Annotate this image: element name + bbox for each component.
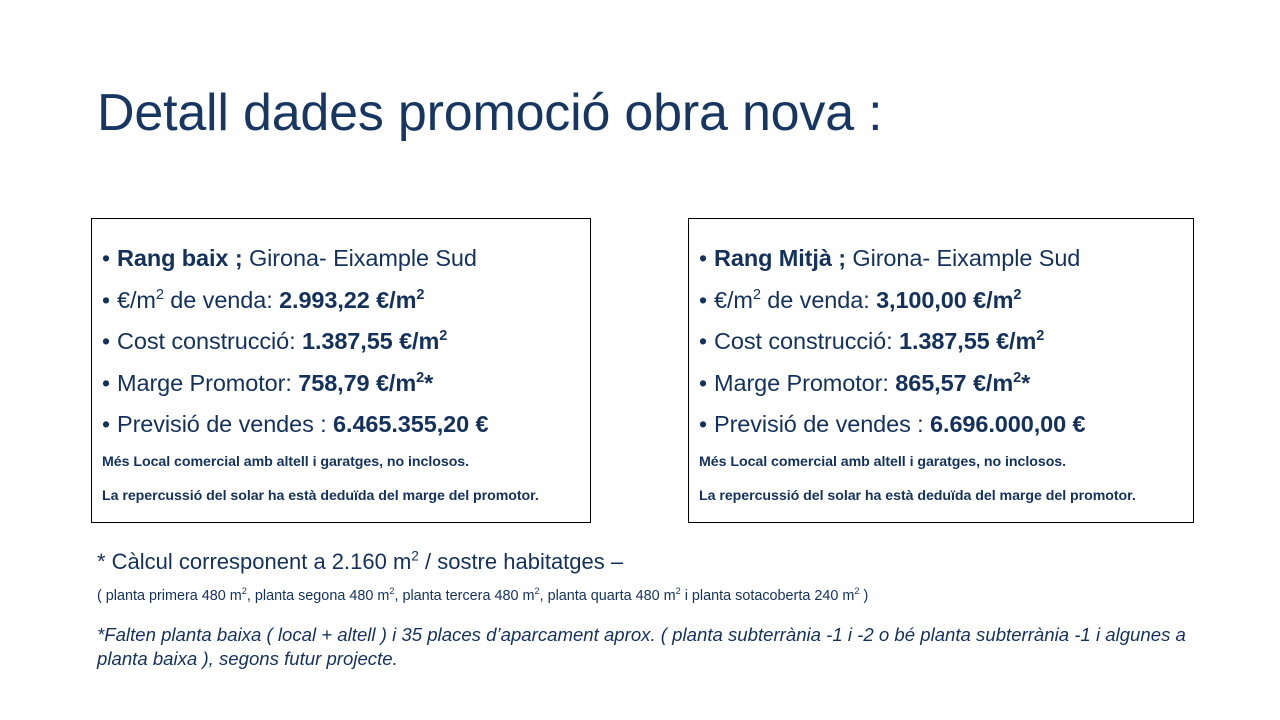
bullet-icon: •	[102, 413, 117, 436]
panel-heading-rest: Girona- Eixample Sud	[846, 245, 1080, 271]
row-value: 6.465.355,20 €	[333, 411, 488, 437]
row-label-pre: Marge Promotor:	[714, 370, 895, 396]
bullet-icon: •	[102, 372, 117, 395]
row-label-pre: Marge Promotor:	[117, 370, 298, 396]
row-label-pre: Previsió de vendes :	[714, 411, 930, 437]
footnote-detail-p4: i planta sotacoberta 240 m	[681, 588, 855, 604]
row-label-pre: Cost construcció:	[117, 328, 302, 354]
bullet-icon: •	[102, 247, 117, 270]
row-value-sup: 2	[1013, 287, 1021, 303]
panel-heading: •Rang Mitjà ; Girona- Eixample Sud	[699, 247, 1185, 271]
bullet-icon: •	[699, 413, 714, 436]
footnote-detail-p2: , planta tercera 480 m	[394, 588, 534, 604]
panel-rang-baix: •Rang baix ; Girona- Eixample Sud •€/m2 …	[91, 218, 591, 523]
row-value: 3,100,00 €/m	[876, 287, 1013, 313]
row-value: 758,79 €/m	[298, 370, 416, 396]
row-value: 1.387,55 €/m	[899, 328, 1036, 354]
footnote-detail: ( planta primera 480 m2, planta segona 4…	[97, 589, 868, 603]
footnote-italic: *Falten planta baixa ( local + altell ) …	[97, 623, 1217, 671]
bullet-icon: •	[699, 372, 714, 395]
panel-heading: •Rang baix ; Girona- Eixample Sud	[102, 247, 582, 271]
row-marge-promotor: •Marge Promotor: 865,57 €/m2*	[699, 372, 1185, 396]
row-label-pre: Cost construcció:	[714, 328, 899, 354]
row-label-sup: 2	[753, 287, 761, 303]
footnote-main-sup: 2	[411, 549, 419, 564]
row-value: 2.993,22 €/m	[279, 287, 416, 313]
bullet-icon: •	[699, 289, 714, 312]
footnote-detail-p5: )	[859, 588, 868, 604]
row-label-pre: €/m	[117, 287, 156, 313]
bullet-icon: •	[102, 289, 117, 312]
row-cost-construccio: •Cost construcció: 1.387,55 €/m2	[699, 330, 1185, 354]
footnote-detail-p0: ( planta primera 480 m	[97, 588, 242, 604]
row-marge-promotor: •Marge Promotor: 758,79 €/m2*	[102, 372, 582, 396]
row-cost-construccio: •Cost construcció: 1.387,55 €/m2	[102, 330, 582, 354]
panel-heading-rest: Girona- Eixample Sud	[243, 245, 477, 271]
row-label-post: de venda:	[761, 287, 876, 313]
row-preu-venda: •€/m2 de venda: 3,100,00 €/m2	[699, 289, 1185, 313]
bullet-icon: •	[102, 330, 117, 353]
row-value-suffix: *	[1021, 370, 1030, 396]
row-label-post: de venda:	[164, 287, 279, 313]
row-value-sup: 2	[1013, 370, 1021, 386]
bullet-icon: •	[699, 330, 714, 353]
page-title: Detall dades promoció obra nova :	[97, 84, 882, 142]
footnote-main-pre: * Càlcul corresponent a 2.160 m	[97, 549, 411, 574]
row-value-sup: 2	[416, 287, 424, 303]
row-value-sup: 2	[416, 370, 424, 386]
row-value: 6.696.000,00 €	[930, 411, 1085, 437]
footnote-detail-p1: , planta segona 480 m	[247, 588, 389, 604]
footnote-main-post: / sostre habitatges –	[419, 549, 623, 574]
panel-note-2: La repercussió del solar ha està deduïda…	[102, 489, 582, 503]
panel-heading-bold: Rang baix ;	[117, 245, 243, 271]
footnote-detail-p3: , planta quarta 480 m	[540, 588, 676, 604]
panel-note-1: Més Local comercial amb altell i garatge…	[102, 455, 582, 469]
row-value: 1.387,55 €/m	[302, 328, 439, 354]
panel-note-1: Més Local comercial amb altell i garatge…	[699, 455, 1185, 469]
panel-rang-mitja: •Rang Mitjà ; Girona- Eixample Sud •€/m2…	[688, 218, 1194, 523]
row-value: 865,57 €/m	[895, 370, 1013, 396]
footnote-main: * Càlcul corresponent a 2.160 m2 / sostr…	[97, 551, 623, 573]
row-label-pre: Previsió de vendes :	[117, 411, 333, 437]
row-preu-venda: •€/m2 de venda: 2.993,22 €/m2	[102, 289, 582, 313]
panel-note-2: La repercussió del solar ha està deduïda…	[699, 489, 1185, 503]
panel-heading-bold: Rang Mitjà ;	[714, 245, 846, 271]
row-value-suffix: *	[424, 370, 433, 396]
row-label-sup: 2	[156, 287, 164, 303]
row-previsio-vendes: •Previsió de vendes : 6.696.000,00 €	[699, 413, 1185, 437]
row-value-sup: 2	[439, 328, 447, 344]
row-previsio-vendes: •Previsió de vendes : 6.465.355,20 €	[102, 413, 582, 437]
bullet-icon: •	[699, 247, 714, 270]
row-value-sup: 2	[1036, 328, 1044, 344]
row-label-pre: €/m	[714, 287, 753, 313]
